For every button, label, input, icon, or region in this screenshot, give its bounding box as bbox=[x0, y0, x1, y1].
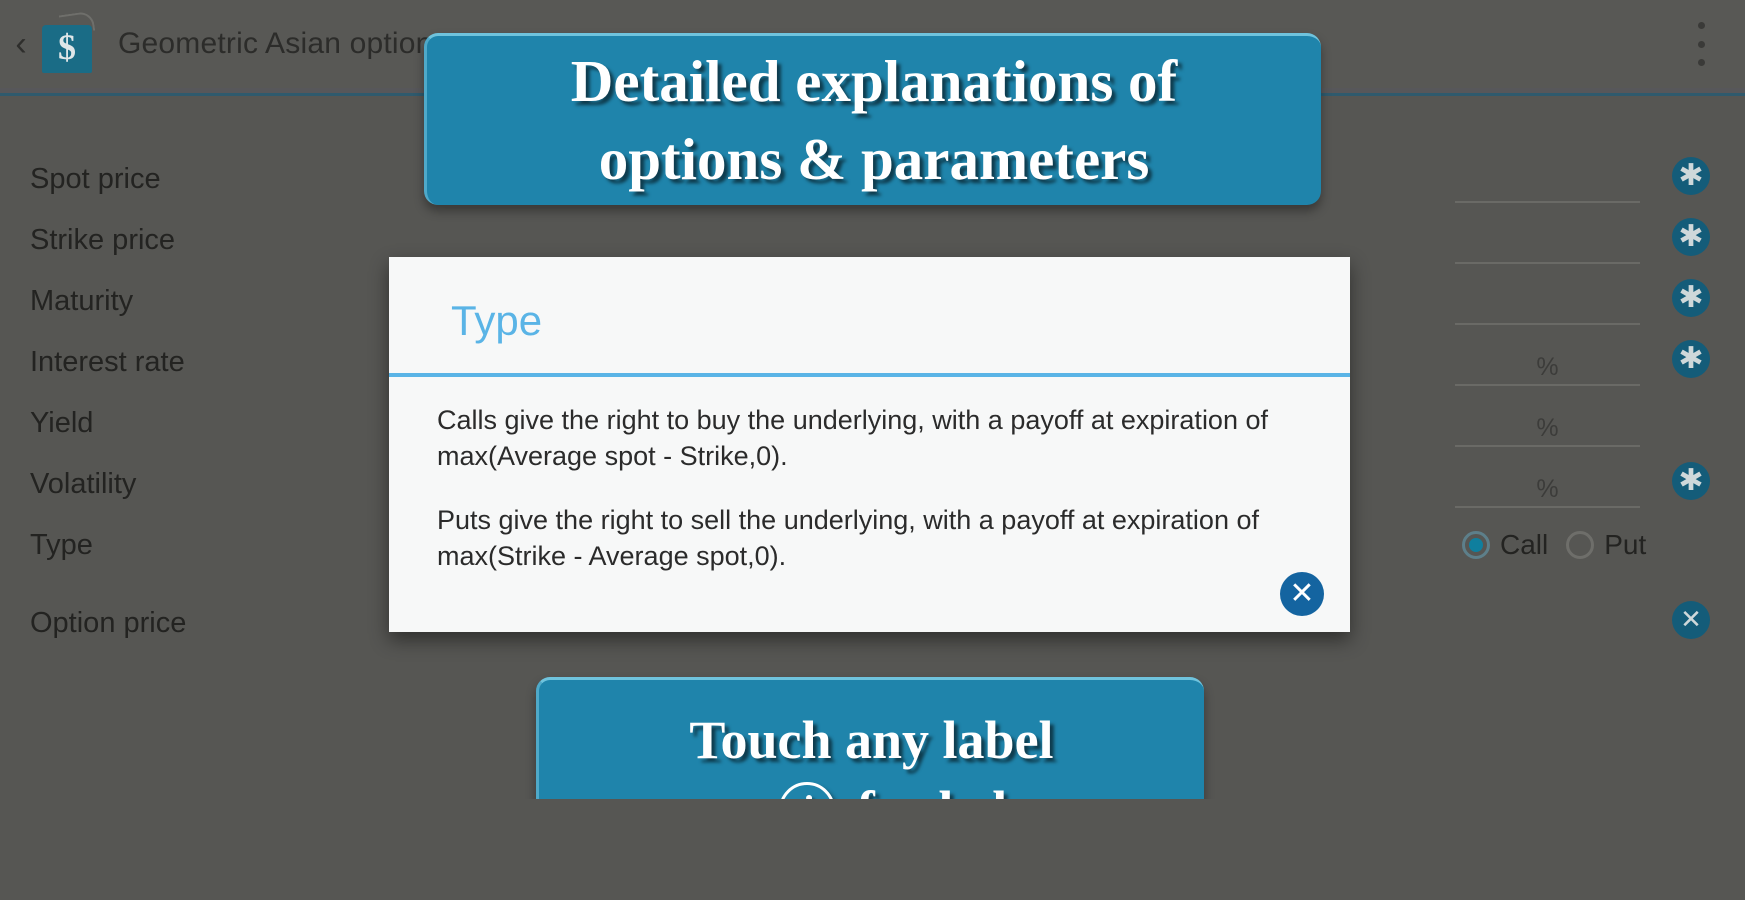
radio-option-call[interactable]: Call bbox=[1462, 529, 1548, 561]
close-circle-icon-option-price[interactable]: ✕ bbox=[1672, 601, 1710, 639]
help-dialog: Type Calls give the right to buy the und… bbox=[389, 257, 1350, 632]
label-interest-rate[interactable]: Interest rate bbox=[0, 346, 400, 379]
input-interest-rate[interactable]: % bbox=[1455, 338, 1640, 386]
info-icon-volatility[interactable]: ✱ bbox=[1672, 462, 1710, 500]
label-option-price[interactable]: Option price bbox=[0, 607, 400, 640]
unit-yield: % bbox=[1536, 415, 1558, 441]
banner-bottom-line-1: Touch any label bbox=[689, 706, 1053, 775]
label-yield[interactable]: Yield bbox=[0, 407, 400, 440]
label-type[interactable]: Type bbox=[0, 529, 400, 562]
info-icon-interest-rate[interactable]: ✱ bbox=[1672, 340, 1710, 378]
input-spot-price[interactable] bbox=[1455, 155, 1640, 203]
banner-top-line-1: Detailed explanations of bbox=[571, 43, 1177, 121]
radio-group-type: Call Put bbox=[1462, 529, 1646, 561]
label-volatility[interactable]: Volatility bbox=[0, 468, 400, 501]
unit-interest-rate: % bbox=[1536, 354, 1558, 380]
radio-dot-call-icon[interactable] bbox=[1462, 531, 1490, 559]
radio-option-put[interactable]: Put bbox=[1566, 529, 1646, 561]
info-icon-maturity[interactable]: ✱ bbox=[1672, 279, 1710, 317]
input-strike-price[interactable] bbox=[1455, 216, 1640, 264]
banner-top-line-2: options & parameters bbox=[599, 121, 1150, 199]
dialog-title: Type bbox=[389, 257, 1350, 345]
input-yield[interactable]: % bbox=[1455, 399, 1640, 447]
banner-detailed-explanations: Detailed explanations of options & param… bbox=[424, 33, 1321, 205]
dialog-paragraph-calls: Calls give the right to buy the underlyi… bbox=[437, 403, 1302, 475]
info-icon-spot-price[interactable]: ✱ bbox=[1672, 157, 1710, 195]
radio-label-put: Put bbox=[1604, 529, 1646, 561]
close-icon[interactable]: ✕ bbox=[1280, 572, 1324, 616]
bottom-spacer bbox=[0, 799, 1745, 900]
label-spot-price[interactable]: Spot price bbox=[0, 163, 400, 196]
radio-label-call: Call bbox=[1500, 529, 1548, 561]
radio-dot-put-icon[interactable] bbox=[1566, 531, 1594, 559]
dialog-paragraph-puts: Puts give the right to sell the underlyi… bbox=[437, 503, 1302, 575]
app-root: ‹ $ Geometric Asian options PRICE GREEKS… bbox=[0, 0, 1745, 900]
dialog-body: Calls give the right to buy the underlyi… bbox=[389, 377, 1350, 575]
info-icon-strike-price[interactable]: ✱ bbox=[1672, 218, 1710, 256]
label-maturity[interactable]: Maturity bbox=[0, 285, 400, 318]
input-volatility[interactable]: % bbox=[1455, 460, 1640, 508]
unit-volatility: % bbox=[1536, 476, 1558, 502]
input-maturity[interactable] bbox=[1455, 277, 1640, 325]
label-strike-price[interactable]: Strike price bbox=[0, 224, 400, 257]
